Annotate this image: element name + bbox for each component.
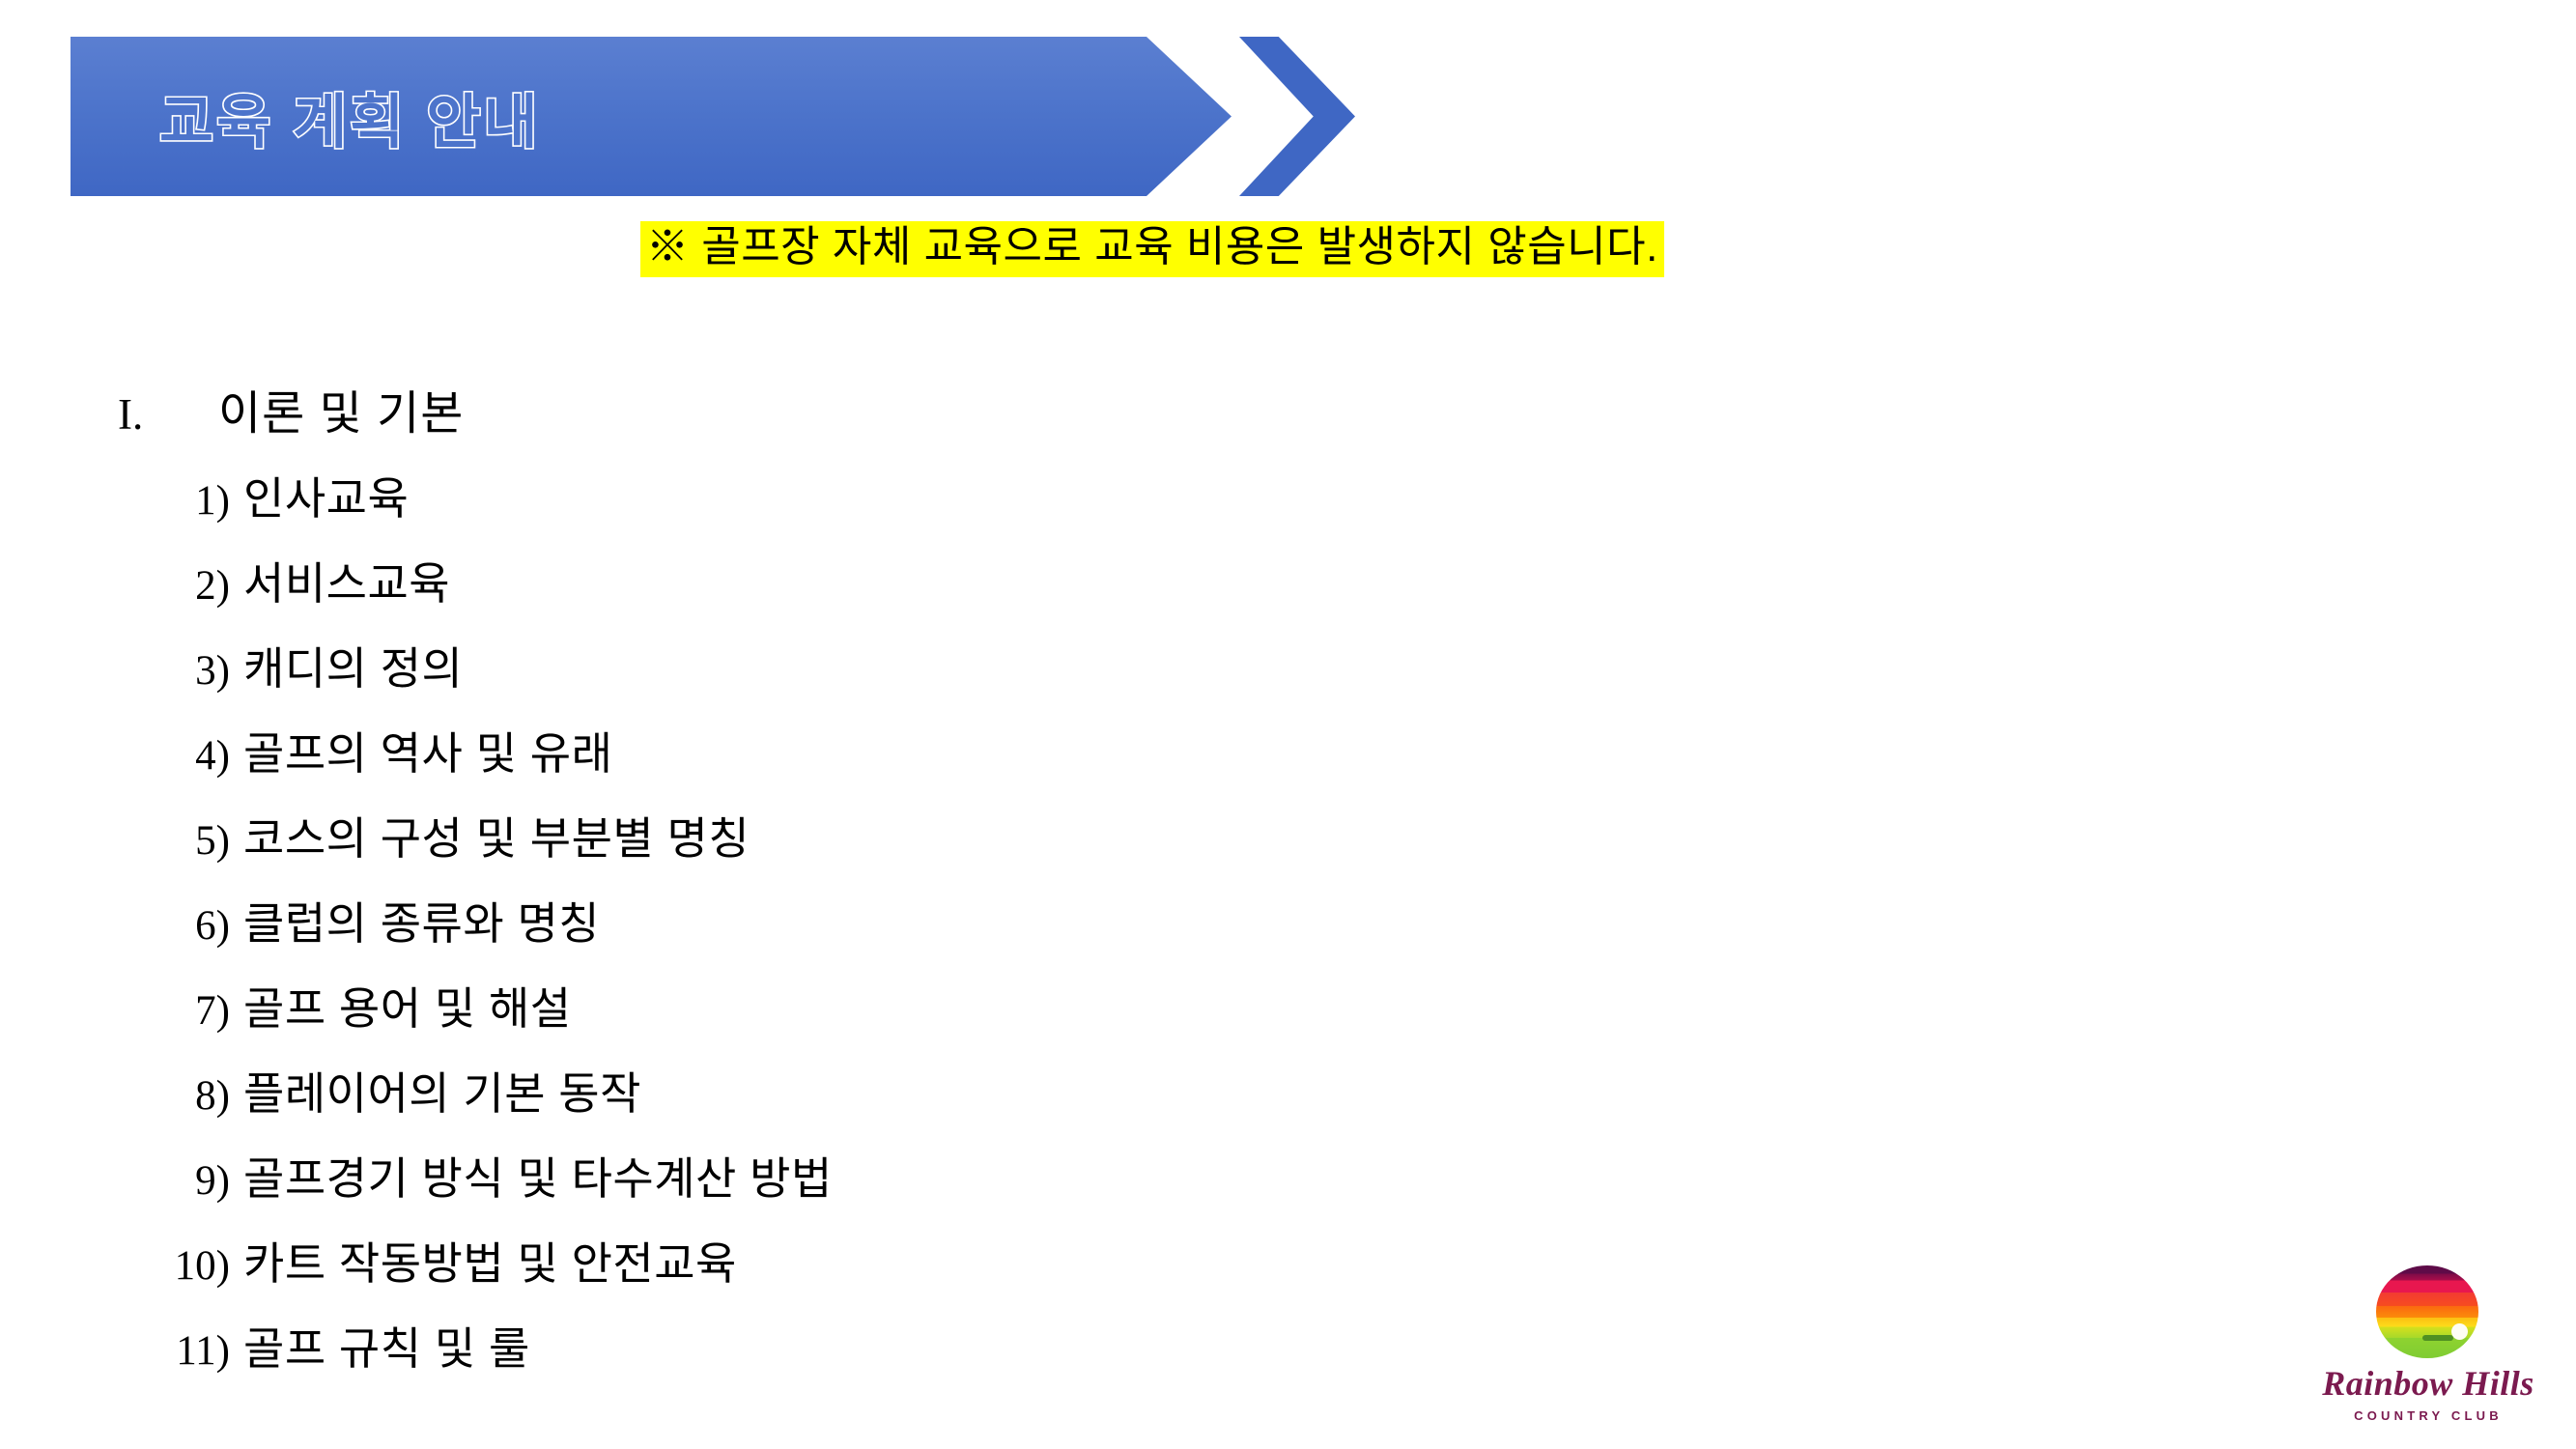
list-item-label: 클럽의 종류와 명칭: [243, 889, 600, 952]
list-item-label: 카트 작동방법 및 안전교육: [243, 1229, 737, 1293]
list-item-label: 골프 규칙 및 룰: [243, 1314, 530, 1378]
list-item-label: 골프 용어 및 해설: [243, 974, 572, 1037]
list-item-label: 골프경기 방식 및 타수계산 방법: [243, 1144, 833, 1207]
list-item: 7) 골프 용어 및 해설: [0, 974, 2576, 1059]
logo-subtext: COUNTRY CLUB: [2316, 1408, 2540, 1423]
list-item: 11) 골프 규칙 및 룰: [0, 1314, 2576, 1399]
rainbow-hills-logo: Rainbow Hills COUNTRY CLUB: [2316, 1264, 2540, 1434]
list-item: 5) 코스의 구성 및 부분별 명칭: [0, 804, 2576, 889]
page-title: 교육 계획 안내: [159, 37, 541, 196]
golf-green-icon: [2422, 1335, 2453, 1341]
banner-chevron-icon: [1239, 37, 1355, 196]
list-item-label: 서비스교육: [243, 549, 450, 612]
list-item: 3) 캐디의 정의: [0, 634, 2576, 719]
outline-heading-marker: I.: [118, 389, 218, 440]
title-banner: 교육 계획 안내: [71, 37, 1231, 196]
outline-list: I. 이론 및 기본 1) 인사교육 2) 서비스교육 3) 캐디의 정의 4)…: [0, 375, 2576, 1399]
list-item-label: 플레이어의 기본 동작: [243, 1059, 641, 1122]
outline-heading-label: 이론 및 기본: [218, 375, 464, 442]
list-item-label: 인사교육: [243, 464, 409, 527]
cost-note-highlight: ※ 골프장 자체 교육으로 교육 비용은 발생하지 않습니다.: [640, 221, 1664, 277]
list-item: 8) 플레이어의 기본 동작: [0, 1059, 2576, 1144]
list-item-marker: 3): [172, 647, 243, 695]
list-item-label: 코스의 구성 및 부분별 명칭: [243, 804, 750, 867]
rainbow-sun-icon: [2376, 1265, 2478, 1358]
list-item-label: 골프의 역사 및 유래: [243, 719, 612, 782]
list-item: 9) 골프경기 방식 및 타수계산 방법: [0, 1144, 2576, 1229]
list-item: 4) 골프의 역사 및 유래: [0, 719, 2576, 804]
list-item-marker: 1): [172, 477, 243, 525]
list-item-marker: 4): [172, 732, 243, 780]
list-item: 10) 카트 작동방법 및 안전교육: [0, 1229, 2576, 1314]
list-item-marker: 2): [172, 562, 243, 610]
list-item-marker: 7): [172, 987, 243, 1035]
golf-ball-icon: [2451, 1323, 2468, 1340]
list-item-marker: 10): [172, 1242, 243, 1290]
list-item: 2) 서비스교육: [0, 549, 2576, 634]
list-item-marker: 11): [172, 1327, 243, 1375]
outline-heading: I. 이론 및 기본: [0, 375, 2576, 442]
logo-wordmark: Rainbow Hills: [2316, 1366, 2540, 1401]
list-item: 6) 클럽의 종류와 명칭: [0, 889, 2576, 974]
list-item-label: 캐디의 정의: [243, 634, 463, 697]
list-item-marker: 6): [172, 902, 243, 950]
list-item-marker: 9): [172, 1157, 243, 1205]
list-item: 1) 인사교육: [0, 464, 2576, 549]
list-item-marker: 8): [172, 1072, 243, 1120]
list-item-marker: 5): [172, 817, 243, 865]
